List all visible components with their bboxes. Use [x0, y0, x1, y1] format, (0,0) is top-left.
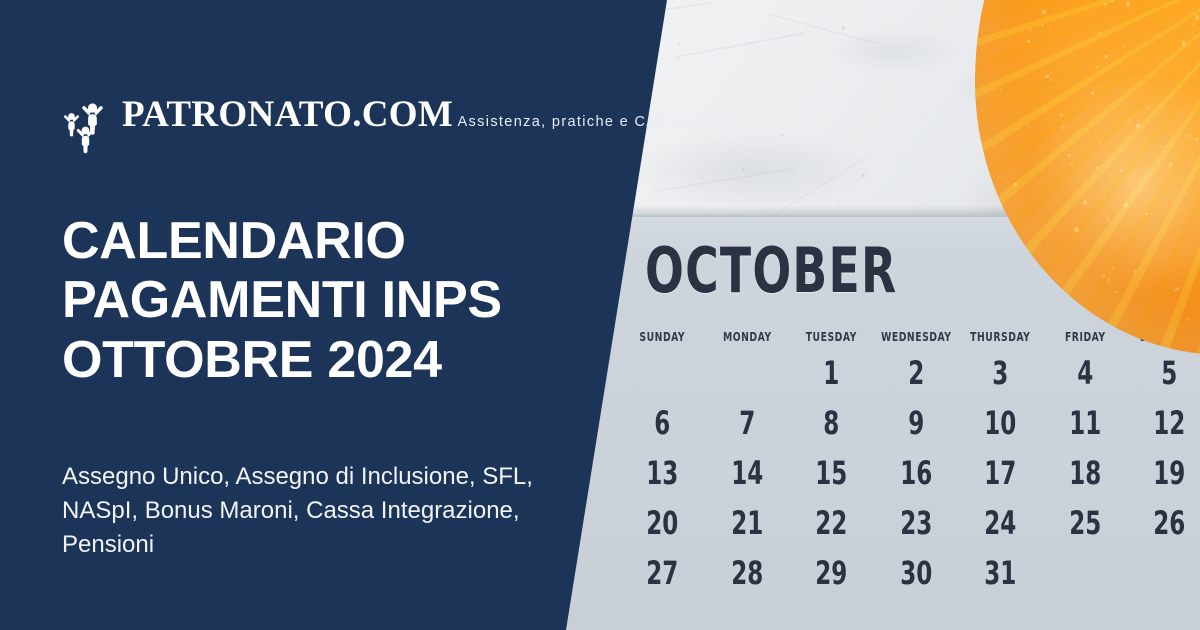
pumpkin-speckle: [1147, 107, 1150, 110]
pumpkin-speckle: [1045, 75, 1049, 79]
pumpkin-speckle: [1081, 113, 1083, 115]
pumpkin-speckle: [1192, 23, 1195, 26]
calendar-day-cell[interactable]: 10: [967, 398, 1035, 448]
calendar-day-cell[interactable]: 30: [882, 548, 950, 598]
calendar-day-cell[interactable]: 23: [882, 498, 950, 548]
calendar-day-cell[interactable]: 18: [1051, 448, 1119, 498]
calendar-day-cell[interactable]: 15: [798, 448, 866, 498]
calendar-day-cell[interactable]: 1: [798, 348, 866, 398]
surface-scratch: [676, 32, 804, 57]
calendar-day-cell[interactable]: 26: [1136, 498, 1200, 548]
calendar-day-cell[interactable]: 9: [882, 398, 950, 448]
pumpkin-speckle: [1124, 203, 1128, 207]
pumpkin-speckle: [1104, 3, 1107, 6]
pumpkin-speckle: [1098, 32, 1101, 35]
pumpkin-speckle: [1042, 10, 1046, 14]
brand-logo-text: PATRONATO.COM Assistenza, pratiche e CAF…: [122, 96, 725, 135]
pumpkin-speckle: [1174, 289, 1177, 292]
pumpkin-speckle: [1169, 163, 1173, 167]
brand-logo[interactable]: PATRONATO.COM Assistenza, pratiche e CAF…: [62, 96, 725, 154]
pumpkin-speckle: [1096, 167, 1098, 169]
pumpkin-speckle: [1061, 125, 1065, 129]
calendar-month-title: OCTOBER: [645, 240, 897, 302]
pumpkin-speckle: [1112, 267, 1115, 270]
pumpkin-speckle: [1096, 66, 1099, 69]
calendar-day-cell[interactable]: 12: [1136, 398, 1200, 448]
calendar-day-cell[interactable]: 13: [628, 448, 696, 498]
brand-tagline: Assistenza, pratiche e CAF on line: [458, 114, 726, 130]
pumpkin-speckle: [1124, 179, 1127, 182]
pumpkin-speckle: [1161, 146, 1163, 148]
pumpkin-speckle: [1110, 0, 1113, 3]
pumpkin-speckle: [1067, 154, 1071, 158]
calendar-day-cell[interactable]: 3: [967, 348, 1035, 398]
pumpkin-speckle: [1178, 44, 1179, 45]
pumpkin-speckle: [1195, 138, 1198, 141]
pumpkin-speckle: [1133, 270, 1137, 274]
pumpkin-speckle: [1060, 113, 1063, 116]
pumpkin-speckle: [1100, 85, 1102, 87]
calendar-day-empty: [713, 348, 781, 398]
calendar-weekday-header: SUNDAY: [626, 330, 699, 348]
calendar-day-cell[interactable]: 25: [1051, 498, 1119, 548]
pumpkin-speckle: [1123, 149, 1124, 150]
calendar-day-cell[interactable]: 5: [1136, 348, 1200, 398]
surface-speck: [861, 174, 864, 177]
calendar-weekday-header: FRIDAY: [1049, 330, 1122, 348]
surface-scratch: [654, 168, 794, 192]
calendar-day-empty: [1136, 548, 1200, 598]
pumpkin-speckle: [1027, 40, 1030, 43]
page-subtitle: Assegno Unico, Assegno di Inclusione, SF…: [62, 460, 552, 562]
calendar-day-cell[interactable]: 16: [882, 448, 950, 498]
pumpkin-speckle: [1136, 124, 1140, 128]
calendar-day-cell[interactable]: 21: [713, 498, 781, 548]
calendar-grid: SUNDAYMONDAYTUESDAYWEDNESDAYTHURSDAYFRID…: [620, 330, 1200, 598]
pumpkin-speckle: [1127, 118, 1131, 122]
surface-speck: [842, 26, 845, 29]
calendar-day-cell[interactable]: 22: [798, 498, 866, 548]
pumpkin-speckle: [1186, 317, 1189, 320]
pumpkin-speckle: [1103, 196, 1106, 199]
pumpkin-speckle: [1000, 89, 1002, 91]
calendar-day-cell[interactable]: 31: [967, 548, 1035, 598]
pumpkin-speckle: [1014, 183, 1017, 186]
pumpkin-speckle: [1088, 223, 1089, 224]
pumpkin-speckle: [1050, 79, 1052, 81]
pumpkin-speckle: [1115, 291, 1117, 293]
page-title: CALENDARIO PAGAMENTI INPS OTTOBRE 2024: [62, 212, 562, 390]
promo-banner: OCTOBER SUNDAYMONDAYTUESDAYWEDNESDAYTHUR…: [0, 0, 1200, 630]
pumpkin-speckle: [1158, 160, 1161, 163]
pumpkin-speckle: [1145, 213, 1147, 215]
pumpkin-speckle: [1027, 124, 1031, 128]
calendar-day-cell[interactable]: 28: [713, 548, 781, 598]
pumpkin-speckle: [1099, 141, 1101, 143]
calendar-day-cell[interactable]: 7: [713, 398, 781, 448]
pumpkin-speckle: [1124, 46, 1126, 48]
calendar-day-cell[interactable]: 29: [798, 548, 866, 598]
calendar-day-cell[interactable]: 8: [798, 398, 866, 448]
pumpkin-speckle: [1195, 15, 1199, 19]
pumpkin-speckle: [1120, 169, 1124, 173]
calendar-day-cell[interactable]: 17: [967, 448, 1035, 498]
surface-speck: [742, 168, 744, 170]
three-people-icon: [62, 96, 116, 154]
calendar-day-empty: [628, 348, 696, 398]
calendar-day-cell[interactable]: 11: [1051, 398, 1119, 448]
pumpkin-speckle: [1148, 96, 1151, 99]
pumpkin-speckle: [1083, 200, 1088, 205]
calendar-weekday-header: WEDNESDAY: [880, 330, 953, 348]
calendar-day-cell[interactable]: 14: [713, 448, 781, 498]
surface-scratch: [659, 2, 710, 11]
pumpkin-speckle: [1070, 163, 1073, 166]
pumpkin-speckle: [1181, 109, 1183, 111]
pumpkin-speckle: [1105, 55, 1108, 58]
calendar-day-cell[interactable]: 27: [628, 548, 696, 598]
pumpkin-speckle: [1124, 137, 1126, 139]
pumpkin-speckle: [1180, 243, 1182, 245]
calendar-day-cell[interactable]: 20: [628, 498, 696, 548]
pumpkin-speckle: [1041, 24, 1044, 27]
pumpkin-speckle: [1177, 287, 1180, 290]
pumpkin-speckle: [1074, 227, 1079, 232]
pumpkin-speckle: [1126, 2, 1130, 6]
pumpkin-speckle: [1125, 287, 1126, 288]
surface-speck: [781, 134, 783, 136]
pumpkin-speckle: [1028, 28, 1032, 32]
calendar-day-cell[interactable]: 19: [1136, 448, 1200, 498]
pumpkin-speckle: [1182, 41, 1186, 45]
surface-scratch: [766, 13, 876, 44]
pumpkin-speckle: [1091, 91, 1095, 95]
pumpkin-speckle: [1107, 278, 1111, 282]
pumpkin-speckle: [1102, 274, 1106, 278]
brand-name: PATRONATO.COM: [122, 94, 453, 135]
calendar-day-cell[interactable]: 4: [1051, 348, 1119, 398]
calendar-day-cell[interactable]: 6: [628, 398, 696, 448]
calendar-weekday-header: MONDAY: [710, 330, 783, 348]
calendar-weekday-header: THURSDAY: [964, 330, 1037, 348]
surface-speck: [678, 43, 680, 45]
pumpkin-speckle: [1187, 134, 1191, 138]
calendar-weekday-header: TUESDAY: [795, 330, 868, 348]
calendar-day-cell[interactable]: 2: [882, 348, 950, 398]
pumpkin-speckle: [1107, 218, 1110, 221]
calendar-day-empty: [1051, 548, 1119, 598]
calendar-day-cell[interactable]: 24: [967, 498, 1035, 548]
pumpkin-speckle: [1087, 133, 1089, 135]
